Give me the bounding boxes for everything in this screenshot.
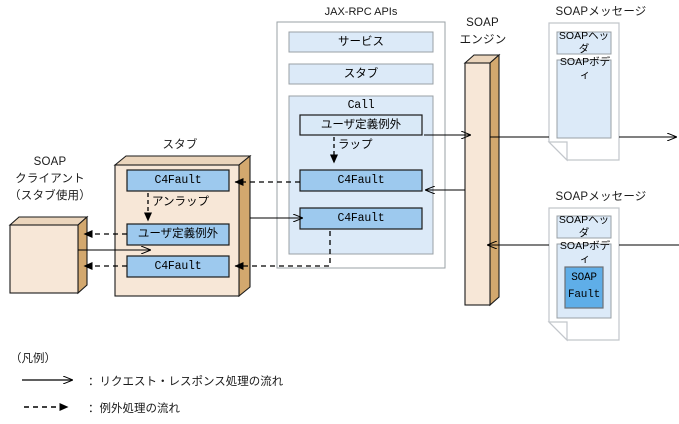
jaxrpc-service-label: サービス	[289, 32, 433, 52]
jaxrpc-call-label: Call	[289, 97, 433, 113]
stub-fault-bottom-label: C4Fault	[127, 256, 229, 277]
soap-message-bottom-header-label: SOAPヘッダ	[557, 216, 611, 238]
soap-client-title-line3: （スタブ使用）	[0, 189, 100, 203]
call-user-exception-label: ユーザ定義例外	[300, 115, 422, 135]
soap-message-top-header-label: SOAPヘッダ	[557, 32, 611, 54]
soap-engine-3d-box	[465, 55, 499, 305]
legend-title: （凡例）	[10, 350, 56, 366]
soap-message-top-body-label: SOAPボディ	[558, 61, 612, 77]
soap-engine-title-line2: エンジン	[452, 33, 514, 47]
stub-unwrap-label: アンラップ	[152, 194, 232, 210]
jaxrpc-title: JAX-RPC APIs	[277, 5, 445, 19]
diagram-canvas: JAX-RPC APIs SOAP エンジン SOAPメッセージ SOAPメッセ…	[0, 0, 679, 424]
legend-item-request-response: ：リクエスト・レスポンス処理の流れ	[88, 373, 283, 389]
legend-item-exception: ：例外処理の流れ	[88, 400, 180, 416]
soap-client-3d-box	[10, 217, 87, 293]
soap-client-title-line2: クライアント	[0, 172, 100, 186]
call-wrap-label: ラップ	[338, 137, 398, 153]
jaxrpc-stub-label: スタブ	[289, 64, 433, 84]
soap-message-top-title: SOAPメッセージ	[541, 5, 661, 19]
soap-fault-label-line2: Fault	[565, 288, 603, 302]
call-fault-lower-label: C4Fault	[300, 208, 422, 229]
stub-title: スタブ	[140, 138, 220, 152]
soap-fault-label-line1: SOAP	[565, 271, 603, 285]
stub-fault-top-label: C4Fault	[127, 170, 229, 191]
legend-markers	[22, 380, 72, 407]
soap-message-bottom-title: SOAPメッセージ	[541, 190, 661, 204]
soap-engine-title-line1: SOAP	[455, 16, 510, 30]
soap-client-title-line1: SOAP	[0, 155, 100, 169]
stub-user-exception-label: ユーザ定義例外	[127, 224, 229, 245]
soap-message-bottom-body-label: SOAPボディ	[558, 245, 612, 261]
call-fault-upper-label: C4Fault	[300, 170, 422, 191]
